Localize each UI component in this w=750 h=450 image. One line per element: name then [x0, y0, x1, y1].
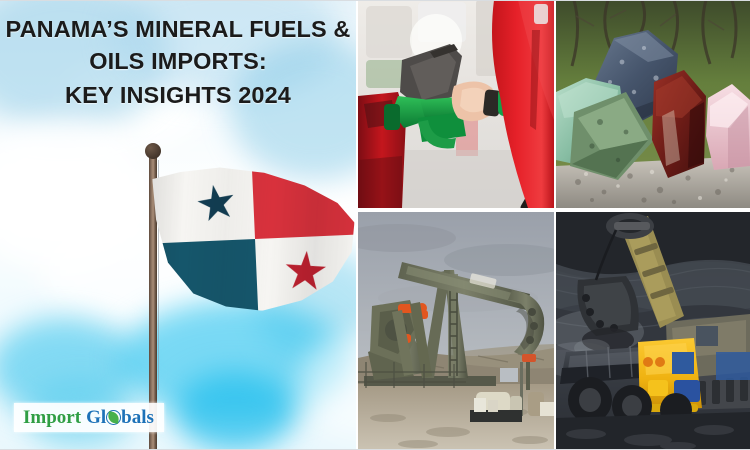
panama-flag — [152, 162, 356, 316]
cloud-shape — [175, 372, 295, 450]
title-line-3: KEY INSIGHTS 2024 — [0, 78, 356, 112]
photo-coal-mining-truck — [556, 212, 750, 450]
photo-mineral-rocks — [556, 0, 750, 208]
page-title: PANAMA’S MINERAL FUELS & OILS IMPORTS: K… — [0, 14, 356, 112]
import-globals-logo[interactable]: ImportGlbals — [14, 403, 164, 432]
logo-word-gl: Gl — [86, 408, 106, 427]
collage-gutter-horizontal — [356, 208, 750, 212]
globe-leaf-icon — [106, 410, 121, 425]
photo-fuel-pump-nozzle — [358, 0, 554, 208]
collage-gutter-vertical — [554, 0, 556, 450]
logo-wordmark: ImportGlbals — [23, 408, 154, 427]
logo-word-bals: bals — [121, 408, 154, 427]
flag-wave-shading — [152, 162, 356, 316]
cloud-shape — [300, 330, 356, 440]
flag-hero-panel: PANAMA’S MINERAL FUELS & OILS IMPORTS: K… — [0, 0, 356, 450]
cloud-shape — [0, 120, 150, 270]
photo-oil-pumpjack — [358, 212, 554, 450]
flagpole-finial — [145, 143, 161, 159]
logo-word-import: Import — [23, 408, 81, 427]
photo-collage — [356, 0, 750, 450]
poster-top-edge — [0, 0, 750, 1]
title-line-1: PANAMA’S MINERAL FUELS & — [0, 14, 356, 44]
collage-gutter-left — [356, 0, 358, 450]
title-line-2: OILS IMPORTS: — [0, 44, 356, 78]
poster-canvas: PANAMA’S MINERAL FUELS & OILS IMPORTS: K… — [0, 0, 750, 450]
